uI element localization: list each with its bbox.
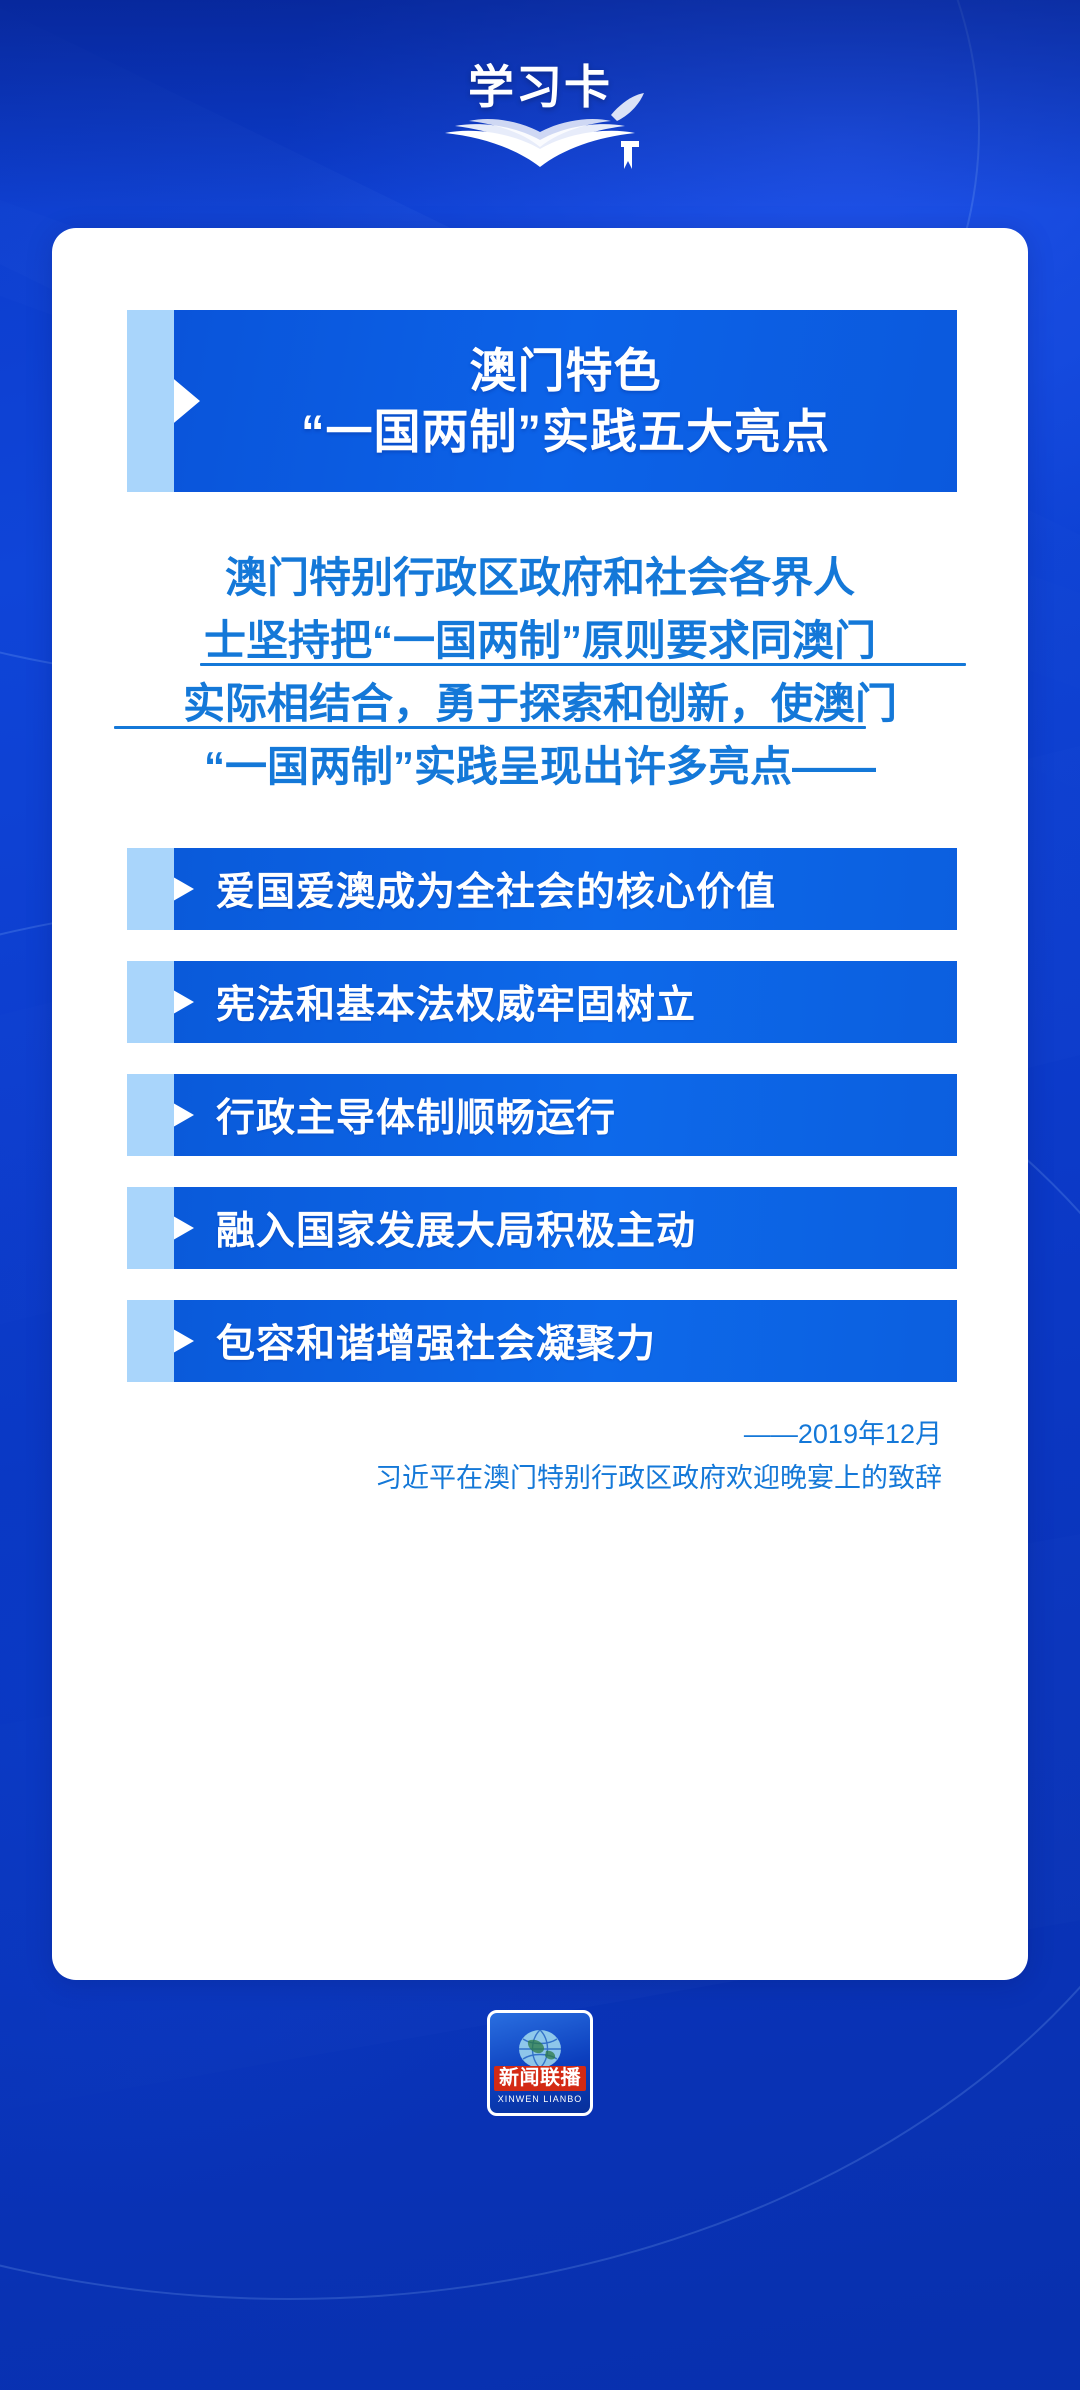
brand-logo: 学习卡 bbox=[425, 45, 655, 185]
list-item-accent bbox=[127, 961, 174, 1043]
paragraph-line-3: 实际相结合，勇于探索和创新，使澳门 bbox=[114, 672, 966, 735]
attribution: ——2019年12月 习近平在澳门特别行政区政府欢迎晚宴上的致辞 bbox=[52, 1413, 1028, 1500]
paragraph-line-2: 士坚持把“一国两制”原则要求同澳门 bbox=[114, 609, 966, 672]
title-banner: 澳门特色 “一国两制”实践五大亮点 bbox=[127, 310, 957, 492]
list-item[interactable]: 包容和谐增强社会凝聚力 bbox=[127, 1300, 957, 1382]
title-banner-accent bbox=[127, 310, 174, 492]
list-item-label: 行政主导体制顺畅运行 bbox=[174, 1087, 616, 1143]
list-item-body: 融入国家发展大局积极主动 bbox=[174, 1187, 957, 1269]
list-item-body: 行政主导体制顺畅运行 bbox=[174, 1074, 957, 1156]
badge-title-en: XINWEN LIANBO bbox=[498, 2094, 583, 2104]
list-item-accent bbox=[127, 1300, 174, 1382]
content-card: 澳门特色 “一国两制”实践五大亮点 澳门特别行政区政府和社会各界人 士坚持把“一… bbox=[52, 228, 1028, 1980]
list-item-accent bbox=[127, 848, 174, 930]
title-banner-body: 澳门特色 “一国两制”实践五大亮点 bbox=[174, 310, 957, 492]
xinwen-lianbo-badge[interactable]: 新闻联播 XINWEN LIANBO bbox=[487, 2010, 593, 2116]
badge-title-cn: 新闻联播 bbox=[494, 2066, 586, 2091]
list-item-label: 包容和谐增强社会凝聚力 bbox=[174, 1313, 656, 1369]
title-line-2: “一国两制”实践五大亮点 bbox=[301, 401, 830, 462]
list-item[interactable]: 融入国家发展大局积极主动 bbox=[127, 1187, 957, 1269]
paragraph-line-4: “一国两制”实践呈现出许多亮点—— bbox=[114, 735, 966, 798]
list-item-body: 爱国爱澳成为全社会的核心价值 bbox=[174, 848, 957, 930]
list-item-label: 融入国家发展大局积极主动 bbox=[174, 1200, 696, 1256]
title-line-1: 澳门特色 bbox=[470, 340, 662, 401]
list-item-accent bbox=[127, 1187, 174, 1269]
header: 学习卡 bbox=[0, 0, 1080, 230]
attribution-source: 习近平在澳门特别行政区政府欢迎晚宴上的致辞 bbox=[52, 1457, 942, 1501]
list-item-body: 包容和谐增强社会凝聚力 bbox=[174, 1300, 957, 1382]
list-item[interactable]: 爱国爱澳成为全社会的核心价值 bbox=[127, 848, 957, 930]
footer: 新闻联播 XINWEN LIANBO bbox=[0, 2010, 1080, 2116]
list-item-label: 爱国爱澳成为全社会的核心价值 bbox=[174, 861, 776, 917]
list-item-label: 宪法和基本法权威牢固树立 bbox=[174, 974, 696, 1030]
list-item-body: 宪法和基本法权威牢固树立 bbox=[174, 961, 957, 1043]
paragraph-line-1: 澳门特别行政区政府和社会各界人 bbox=[114, 546, 966, 609]
brand-logo-text: 学习卡 bbox=[468, 51, 612, 117]
list-item[interactable]: 宪法和基本法权威牢固树立 bbox=[127, 961, 957, 1043]
list-item[interactable]: 行政主导体制顺畅运行 bbox=[127, 1074, 957, 1156]
highlights-list: 爱国爱澳成为全社会的核心价值 宪法和基本法权威牢固树立 行政主导体制顺畅运行 融… bbox=[127, 848, 957, 1413]
intro-paragraph: 澳门特别行政区政府和社会各界人 士坚持把“一国两制”原则要求同澳门 实际相结合，… bbox=[114, 546, 966, 798]
attribution-date: ——2019年12月 bbox=[52, 1413, 942, 1457]
list-item-accent bbox=[127, 1074, 174, 1156]
